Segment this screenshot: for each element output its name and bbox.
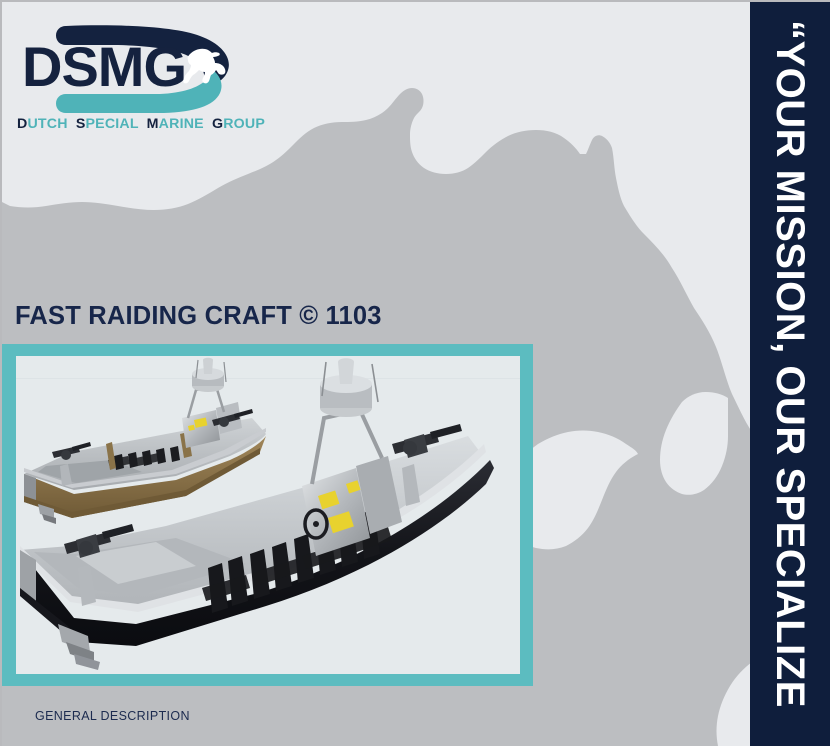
section-label: GENERAL DESCRIPTION bbox=[35, 709, 190, 723]
rear-craft bbox=[24, 358, 266, 524]
tagline-rest: ROUP bbox=[223, 116, 265, 132]
tagline-banner-text: “YOUR MISSION, OUR SPECIALIZE bbox=[770, 20, 810, 708]
company-logo[interactable]: DSMG DUTCH SPECIAL MARINE GROUP bbox=[14, 16, 254, 138]
tagline-word-special: SPECIAL bbox=[76, 116, 143, 132]
tagline-rest: PECIAL bbox=[86, 116, 139, 132]
tagline-cap: G bbox=[212, 116, 223, 132]
dsmg-logo-mark: DSMG bbox=[14, 16, 254, 116]
tagline-word-group: GROUP bbox=[212, 116, 265, 132]
tagline-word-marine: MARINE bbox=[147, 116, 208, 132]
svg-text:DSMG: DSMG bbox=[22, 35, 186, 98]
slide-canvas: DSMG DUTCH SPECIAL MARINE GROUP FAST RAI… bbox=[0, 0, 830, 746]
tagline-rest: ARINE bbox=[159, 116, 204, 132]
product-image-inner bbox=[16, 356, 520, 674]
logo-tagline: DUTCH SPECIAL MARINE GROUP bbox=[17, 116, 253, 132]
fast-raiding-craft-render bbox=[16, 356, 520, 674]
tagline-cap: D bbox=[17, 116, 27, 132]
product-image-panel bbox=[2, 344, 533, 686]
tagline-rest: UTCH bbox=[27, 116, 67, 132]
tagline-cap: M bbox=[147, 116, 159, 132]
tagline-cap: S bbox=[76, 116, 86, 132]
tagline-word-dutch: DUTCH bbox=[17, 116, 72, 132]
tagline-banner: “YOUR MISSION, OUR SPECIALIZE bbox=[750, 2, 830, 746]
page-title: FAST RAIDING CRAFT © 1103 bbox=[15, 302, 382, 331]
